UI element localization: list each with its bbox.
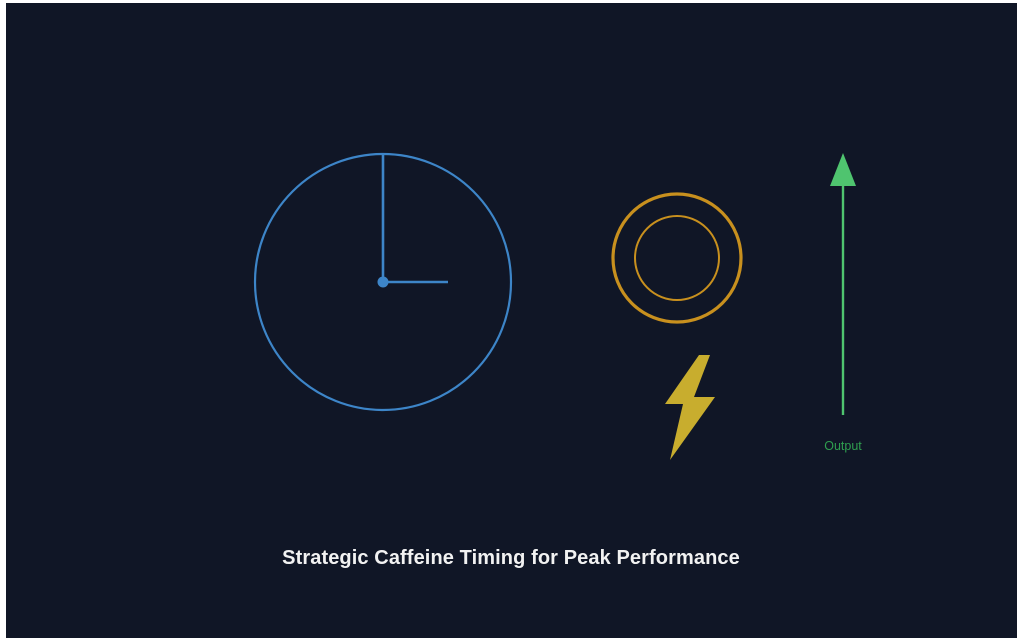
output-arrow-label: Output	[824, 439, 862, 453]
figure-graphic: Output Strategic Caffeine Timing for Pea…	[6, 3, 1017, 638]
clock-center-dot	[378, 277, 389, 288]
output-arrow-head	[830, 153, 856, 186]
lightning-bolt-icon	[665, 355, 715, 460]
figure-root: Output Strategic Caffeine Timing for Pea…	[0, 0, 1024, 638]
coffee-cup-outer-ring	[613, 194, 741, 322]
lightning-bolt-group	[665, 355, 715, 460]
clock-group	[255, 154, 511, 410]
coffee-cup-group	[613, 194, 741, 322]
coffee-cup-inner-ring	[635, 216, 719, 300]
figure-canvas: Output Strategic Caffeine Timing for Pea…	[6, 3, 1017, 638]
figure-title: Strategic Caffeine Timing for Peak Perfo…	[282, 547, 740, 569]
output-arrow-group: Output	[824, 153, 862, 453]
